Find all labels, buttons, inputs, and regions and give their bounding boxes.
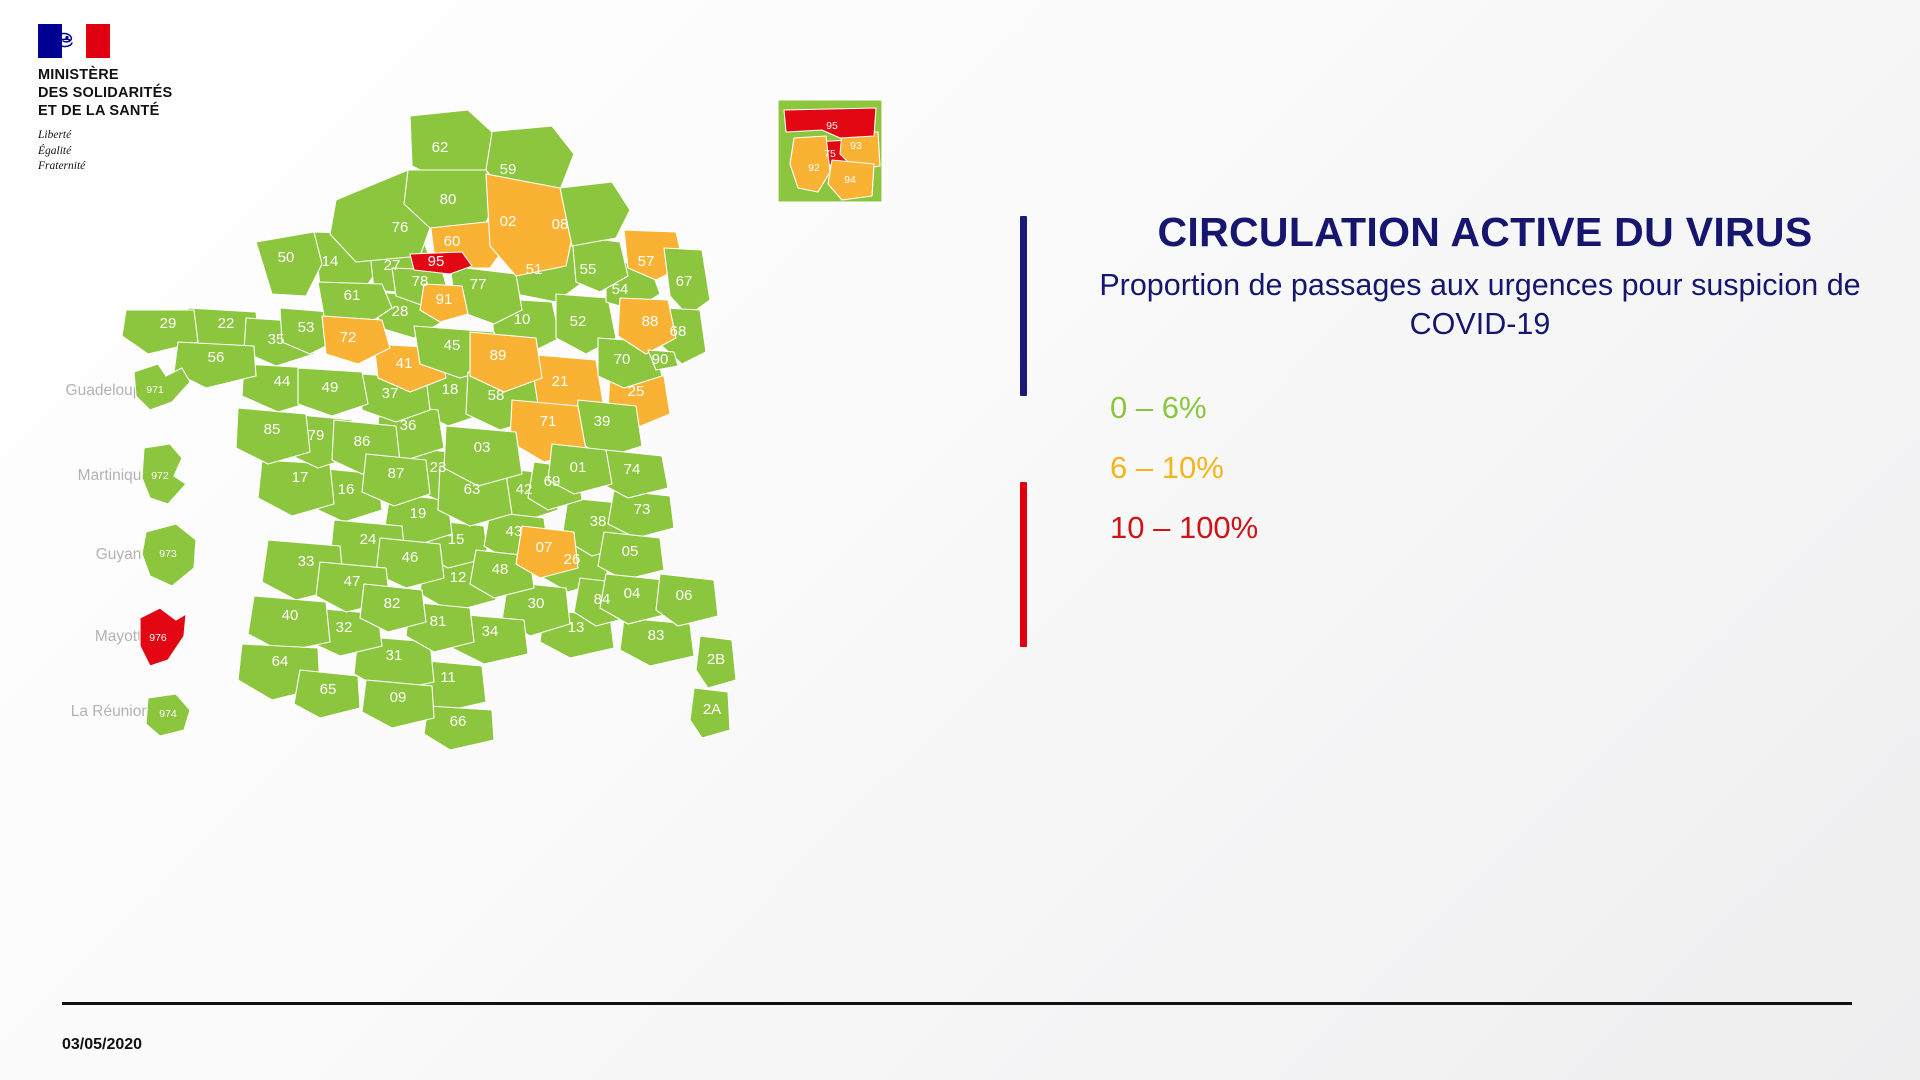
department-09[interactable] xyxy=(362,680,434,728)
department-85[interactable] xyxy=(236,408,310,464)
footer-date: 03/05/2020 xyxy=(62,1036,142,1054)
department-976[interactable] xyxy=(140,608,186,666)
legend-item-green: 0 – 6% xyxy=(1110,392,1890,423)
department-972[interactable] xyxy=(142,444,186,504)
department-17[interactable] xyxy=(258,460,334,516)
slide-root: MINISTÈRE DES SOLIDARITÉS ET DE LA SANTÉ… xyxy=(0,0,1920,1080)
department-05[interactable] xyxy=(598,532,664,580)
department-67[interactable] xyxy=(664,248,710,316)
page-subtitle: Proportion de passages aux urgences pour… xyxy=(1080,266,1880,344)
legend-item-orange: 6 – 10% xyxy=(1110,452,1890,483)
france-department-map: 1011121314151617181921222324252627282930… xyxy=(0,70,800,770)
department-2B[interactable] xyxy=(696,636,736,688)
paris-inset-svg: 7592939495 xyxy=(770,92,890,210)
department-2A[interactable] xyxy=(690,688,730,738)
department-49[interactable] xyxy=(298,368,368,416)
department-74[interactable] xyxy=(602,450,668,498)
footer-divider xyxy=(62,1002,1852,1005)
accent-bar-blue xyxy=(1020,216,1027,396)
department-50[interactable] xyxy=(256,232,322,296)
legend: 0 – 6% 6 – 10% 10 – 100% xyxy=(1110,392,1890,543)
department-971[interactable] xyxy=(134,364,190,410)
accent-bar-red xyxy=(1020,482,1027,647)
french-flag-marianne-icon xyxy=(38,24,110,58)
info-panel: CIRCULATION ACTIVE DU VIRUS Proportion d… xyxy=(1010,210,1890,572)
department-66[interactable] xyxy=(424,706,494,750)
department-08[interactable] xyxy=(560,182,630,246)
department-974[interactable] xyxy=(146,694,190,736)
map-svg: 1011121314151617181921222324252627282930… xyxy=(0,70,800,770)
paris-inset-map: 7592939495 xyxy=(770,92,890,210)
department-40[interactable] xyxy=(248,596,330,652)
department-06[interactable] xyxy=(656,574,718,626)
page-title: CIRCULATION ACTIVE DU VIRUS xyxy=(1080,210,1890,254)
legend-item-red: 10 – 100% xyxy=(1110,512,1890,543)
department-65[interactable] xyxy=(294,670,360,718)
department-973[interactable] xyxy=(142,524,196,586)
